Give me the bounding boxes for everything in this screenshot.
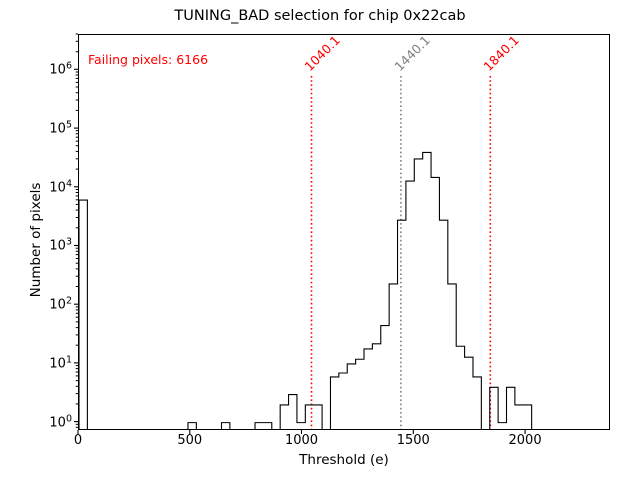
histogram-figure: TUNING_BAD selection for chip 0x22cab 10… [0,0,640,480]
y-tick-base: 10 [49,357,66,372]
y-tick-label: 100 [0,413,72,430]
y-axis-label: Number of pixels [28,120,44,360]
y-tick-exponent: 1 [66,354,72,365]
histogram-svg [79,35,610,430]
y-tick-base: 10 [49,298,66,313]
x-tick-label: 0 [74,433,82,448]
y-tick-exponent: 3 [66,237,72,248]
y-tick-exponent: 5 [66,119,72,130]
y-tick-exponent: 0 [66,413,72,424]
y-tick-base: 10 [49,415,66,430]
histogram-step-line [79,152,610,430]
x-tick-label: 1000 [285,433,318,448]
y-tick-label: 106 [0,61,72,78]
page-title: TUNING_BAD selection for chip 0x22cab [0,8,640,24]
x-tick-label: 1500 [397,433,430,448]
x-axis-label: Threshold (e) [78,452,610,468]
y-tick-base: 10 [49,122,66,137]
x-tick-label: 500 [177,433,202,448]
y-tick-base: 10 [49,180,66,195]
y-tick-exponent: 2 [66,296,72,307]
failing-pixels-annotation: Failing pixels: 6166 [88,52,208,67]
plot-area: Failing pixels: 6166 1040.11440.11840.1 [78,34,610,430]
y-tick-base: 10 [49,239,66,254]
y-tick-exponent: 6 [66,61,72,72]
y-tick-exponent: 4 [66,178,72,189]
y-tick-base: 10 [49,63,66,78]
x-tick-label: 2000 [509,433,542,448]
